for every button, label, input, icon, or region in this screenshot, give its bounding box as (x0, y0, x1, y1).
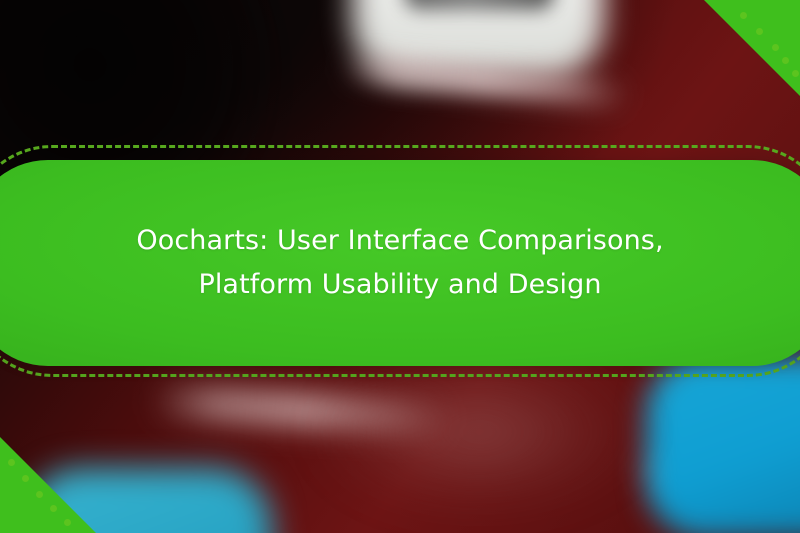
page-title-line-2: Platform Usability and Design (198, 266, 601, 304)
dot-icon (64, 519, 71, 526)
dot-icon (36, 491, 43, 498)
dot-icon (756, 28, 763, 35)
corner-dots-bottom-left (0, 437, 96, 533)
dot-icon (772, 44, 779, 51)
background-cyan-app-icon-right (646, 356, 800, 533)
title-card: Oocharts: User Interface Comparisons, Pl… (0, 0, 800, 533)
corner-ornament-top-right (704, 0, 800, 96)
dot-icon (740, 12, 747, 19)
corner-dots-top-right (704, 0, 800, 96)
title-banner: Oocharts: User Interface Comparisons, Pl… (0, 160, 800, 366)
dot-icon (50, 505, 57, 512)
dot-icon (22, 475, 29, 482)
background-soft-highlight (300, 360, 660, 533)
title-banner-content: Oocharts: User Interface Comparisons, Pl… (0, 160, 800, 366)
background-white-app-icon-glyph (404, 0, 554, 10)
dot-icon (782, 57, 789, 64)
dot-icon (792, 70, 799, 77)
corner-ornament-bottom-left (0, 437, 96, 533)
dot-icon (8, 459, 15, 466)
page-title-line-1: Oocharts: User Interface Comparisons, (136, 222, 663, 260)
